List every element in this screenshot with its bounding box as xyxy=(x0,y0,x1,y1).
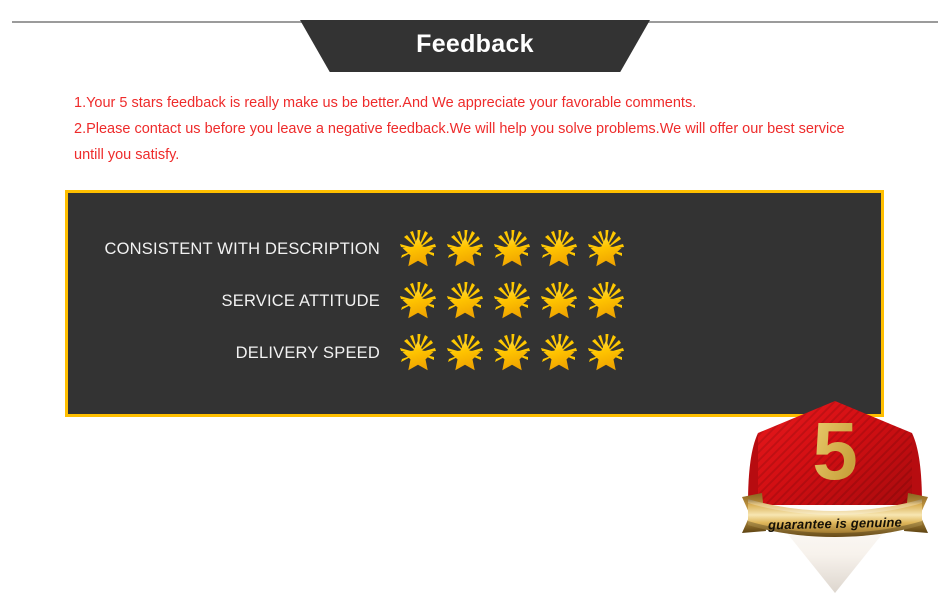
star-rating-service-attitude[interactable] xyxy=(398,281,626,321)
sparkle-star-icon xyxy=(539,333,579,373)
sparkle-star-icon xyxy=(586,281,626,321)
header-rule-right xyxy=(648,21,938,23)
shield-badge-icon: 5 guarantee is genuine xyxy=(740,393,930,598)
note-line-2: 2.Please contact us before you leave a n… xyxy=(74,116,874,168)
note-line-1: 1.Your 5 stars feedback is really make u… xyxy=(74,90,874,116)
sparkle-star-icon xyxy=(492,229,532,269)
table-row: SERVICE ATTITUDE xyxy=(68,277,648,325)
sparkle-star-icon xyxy=(445,229,485,269)
table-row: DELIVERY SPEED xyxy=(68,329,648,377)
header-rule-left xyxy=(12,21,302,23)
sparkle-star-icon xyxy=(539,281,579,321)
sparkle-star-icon xyxy=(492,333,532,373)
sparkle-star-icon xyxy=(539,229,579,269)
rating-label-delivery-speed: DELIVERY SPEED xyxy=(68,344,398,363)
sparkle-star-icon xyxy=(445,333,485,373)
rating-panel: CONSISTENT WITH DESCRIPTION SERVICE ATTI… xyxy=(65,190,884,417)
rating-label-service-attitude: SERVICE ATTITUDE xyxy=(68,292,398,311)
rating-row-list: CONSISTENT WITH DESCRIPTION SERVICE ATTI… xyxy=(68,225,648,381)
rating-label-consistent-with-description: CONSISTENT WITH DESCRIPTION xyxy=(68,240,398,259)
sparkle-star-icon xyxy=(492,281,532,321)
sparkle-star-icon xyxy=(398,281,438,321)
sparkle-star-icon xyxy=(398,333,438,373)
sparkle-star-icon xyxy=(586,333,626,373)
page-title: Feedback xyxy=(300,20,650,72)
sparkle-star-icon xyxy=(398,229,438,269)
feedback-banner: Feedback xyxy=(300,20,650,72)
sparkle-star-icon xyxy=(445,281,485,321)
star-rating-consistent-with-description[interactable] xyxy=(398,229,626,269)
table-row: CONSISTENT WITH DESCRIPTION xyxy=(68,225,648,273)
page-header: Feedback xyxy=(0,0,950,80)
feedback-notes: 1.Your 5 stars feedback is really make u… xyxy=(74,90,874,168)
sparkle-star-icon xyxy=(586,229,626,269)
star-rating-delivery-speed[interactable] xyxy=(398,333,626,373)
